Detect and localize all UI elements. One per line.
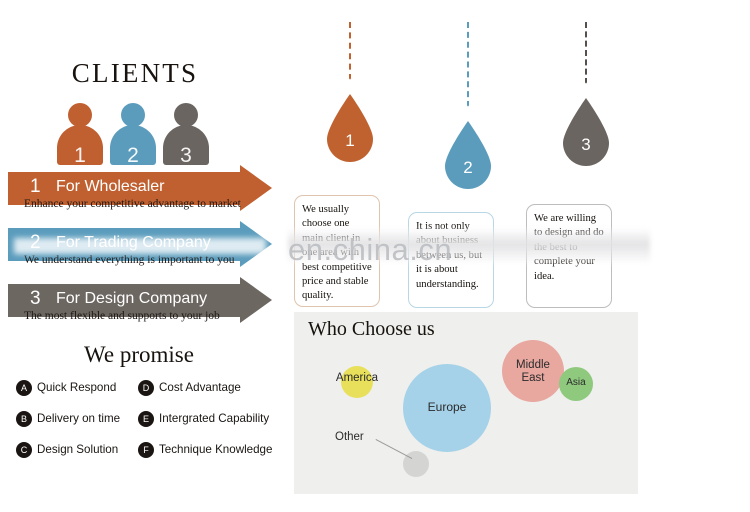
dashed-line-1 bbox=[349, 22, 351, 80]
promise-badge: D bbox=[138, 380, 154, 396]
bubble-label-america: America bbox=[317, 372, 397, 384]
promise-badge: C bbox=[16, 442, 32, 458]
arrow-row-trading: 2 For Trading Company We understand ever… bbox=[8, 228, 276, 261]
process-panel: 1 2 3 We usually choose one main client … bbox=[288, 0, 750, 512]
promise-badge: E bbox=[138, 411, 154, 427]
dashed-line-2 bbox=[467, 22, 469, 107]
arrow-subtitle: We understand everything is important to… bbox=[24, 254, 274, 266]
promise-badge: B bbox=[16, 411, 32, 427]
teardrop-marker-2: 2 bbox=[428, 105, 508, 210]
teardrop-marker-3: 3 bbox=[546, 82, 626, 187]
bubble-label-europe: Europe bbox=[390, 400, 504, 414]
person-number: 1 bbox=[57, 145, 103, 166]
bubble-label-other: Other bbox=[335, 431, 395, 443]
bubble-label-asia: Asia bbox=[546, 377, 606, 389]
teardrop-number-1: 1 bbox=[310, 131, 390, 151]
person-head bbox=[68, 103, 92, 127]
person-icon-3: 3 bbox=[163, 103, 209, 165]
description-box-2: It is not only about business between us… bbox=[408, 212, 494, 308]
clients-panel: CLIENTS 1 2 3 1 For Wholesaler Enhance y… bbox=[0, 0, 288, 512]
teardrop-shape-3 bbox=[546, 82, 626, 182]
arrow-number: 2 bbox=[30, 232, 41, 254]
teardrop-number-3: 3 bbox=[546, 135, 626, 155]
teardrop-marker-1: 1 bbox=[310, 78, 390, 183]
promise-label: Quick Respond bbox=[37, 381, 116, 394]
arrow-label: For Wholesaler bbox=[56, 178, 164, 196]
arrow-label: For Trading Company bbox=[56, 234, 211, 252]
arrow-number: 3 bbox=[30, 288, 41, 310]
promise-badge: A bbox=[16, 380, 32, 396]
person-icon-2: 2 bbox=[110, 103, 156, 165]
teardrop-shape-1 bbox=[310, 78, 390, 178]
who-choose-us-chart: Who Choose us AmericaEuropeMiddleEastAsi… bbox=[294, 312, 638, 494]
we-promise-title: We promise bbox=[0, 342, 278, 368]
arrow-subtitle: Enhance your competitive advantage to ma… bbox=[24, 198, 274, 210]
description-box-3: We are willing to design and do the best… bbox=[526, 204, 612, 308]
arrow-label: For Design Company bbox=[56, 290, 207, 308]
clients-title: CLIENTS bbox=[0, 58, 270, 89]
teardrop-number-2: 2 bbox=[428, 158, 508, 178]
promise-label: Technique Knowledge bbox=[159, 443, 272, 456]
arrow-row-wholesaler: 1 For Wholesaler Enhance your competitiv… bbox=[8, 172, 276, 205]
arrow-number: 1 bbox=[30, 176, 41, 198]
person-head bbox=[121, 103, 145, 127]
promise-badge: F bbox=[138, 442, 154, 458]
arrow-subtitle: The most flexible and supports to your j… bbox=[24, 310, 274, 322]
promise-label: Design Solution bbox=[37, 443, 118, 456]
infographic-canvas: CLIENTS 1 2 3 1 For Wholesaler Enhance y… bbox=[0, 0, 750, 512]
person-icon-1: 1 bbox=[57, 103, 103, 165]
dashed-line-3 bbox=[585, 22, 587, 84]
description-box-1: We usually choose one main client in one… bbox=[294, 195, 380, 307]
person-number: 3 bbox=[163, 145, 209, 166]
promise-label: Cost Advantage bbox=[159, 381, 241, 394]
teardrop-shape-2 bbox=[428, 105, 508, 205]
person-head bbox=[174, 103, 198, 127]
arrow-row-design: 3 For Design Company The most flexible a… bbox=[8, 284, 276, 317]
promise-label: Delivery on time bbox=[37, 412, 120, 425]
chart-title: Who Choose us bbox=[308, 318, 435, 341]
person-number: 2 bbox=[110, 145, 156, 166]
promise-label: Intergrated Capability bbox=[159, 412, 269, 425]
